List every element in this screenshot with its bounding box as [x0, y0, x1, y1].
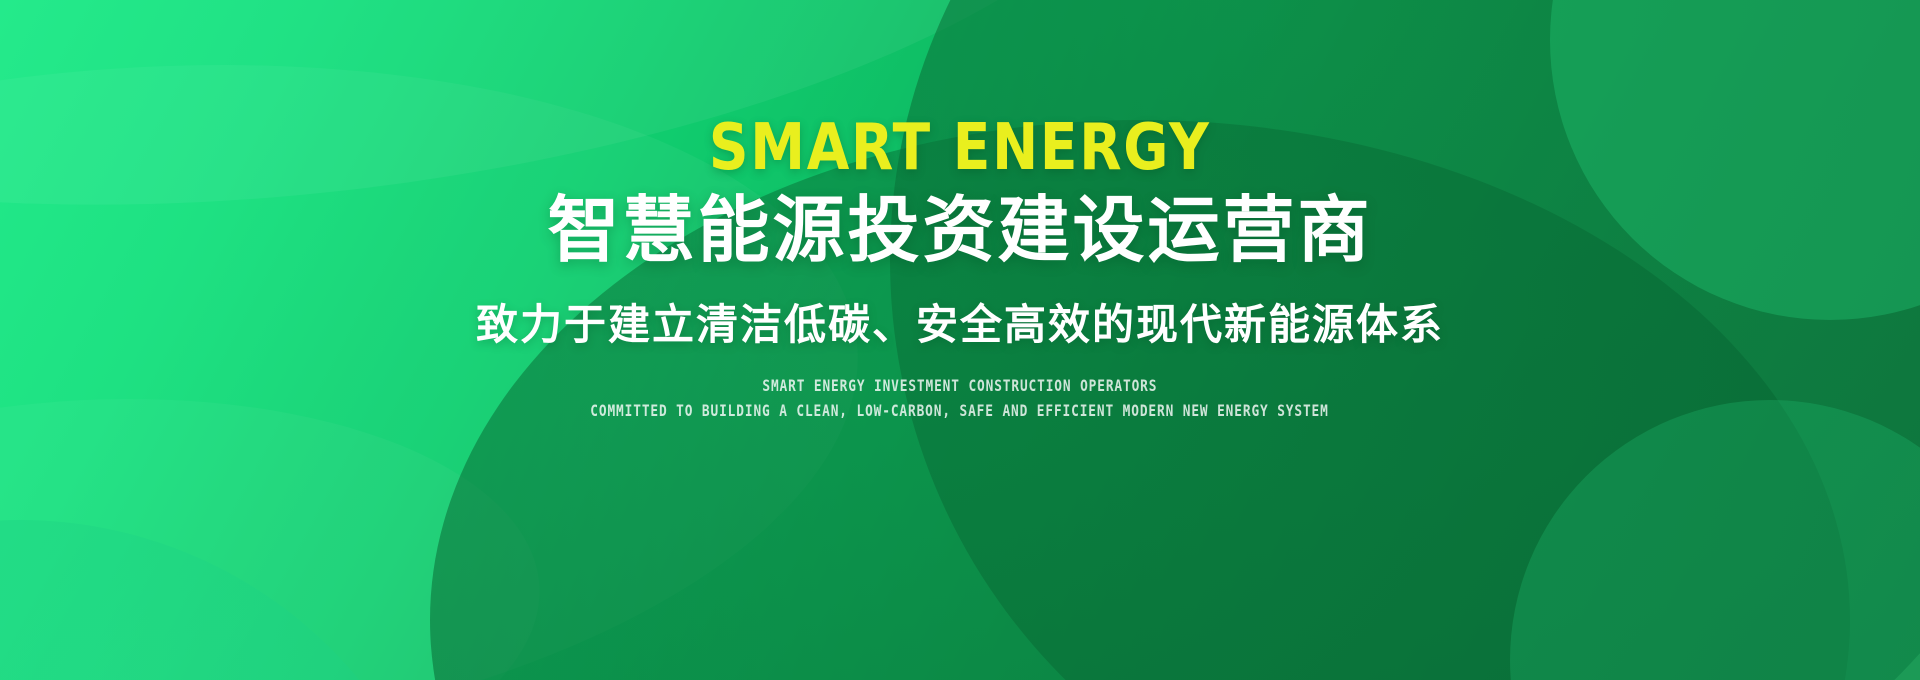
- caption-english-line-1: SMART ENERGY INVESTMENT CONSTRUCTION OPE…: [763, 374, 1158, 399]
- caption-english-line-2: COMMITTED TO BUILDING A CLEAN, LOW-CARBO…: [591, 399, 1329, 424]
- subheadline-chinese: 致力于建立清洁低碳、安全高效的现代新能源体系: [476, 302, 1444, 348]
- banner-content: SMART ENERGY 智慧能源投资建设运营商 致力于建立清洁低碳、安全高效的…: [0, 0, 1920, 680]
- headline-english: SMART ENERGY: [709, 116, 1211, 180]
- headline-chinese: 智慧能源投资建设运营商: [547, 192, 1372, 270]
- hero-banner: SMART ENERGY 智慧能源投资建设运营商 致力于建立清洁低碳、安全高效的…: [0, 0, 1920, 680]
